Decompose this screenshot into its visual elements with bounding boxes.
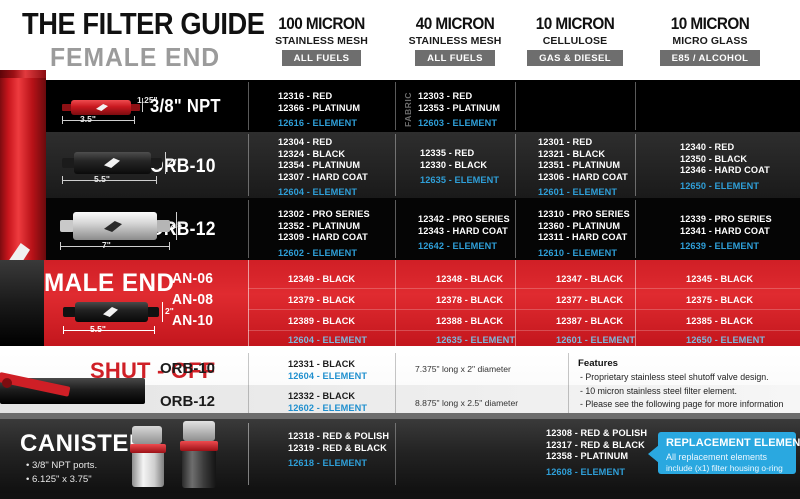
male-fitting-image <box>0 260 44 346</box>
column-header-10-micron-micro-glass: 10 MICRON MICRO GLASS E85 / ALCOHOL <box>635 14 785 66</box>
row-orb-12: ORB-12 7" 2.5" 12302 - PRO SERIES 12352 … <box>0 198 800 260</box>
feature-item: - 10 micron stainless steel filter eleme… <box>580 386 737 396</box>
shutoff-dimensions: 7.375" long x 2" diameter <box>415 364 511 374</box>
part-number: 12366 - PLATINUM <box>278 103 360 115</box>
part-number: 12339 - PRO SERIES <box>680 214 772 226</box>
part-number-element: 12601 - ELEMENT <box>538 187 628 198</box>
dimension-line-diameter <box>165 152 166 174</box>
cell-npt-100micron: 12316 - RED 12366 - PLATINUM 12616 - ELE… <box>278 91 360 130</box>
canister-image-polish <box>128 426 168 488</box>
column-header-100-micron: 100 MICRON STAINLESS MESH ALL FUELS <box>248 14 395 66</box>
fabric-label: FABRIC <box>403 92 413 127</box>
cell-orb10-10micron-microglass: 12340 - RED 12350 - BLACK 12346 - HARD C… <box>680 142 770 192</box>
part-number: 12375 - BLACK <box>686 295 753 307</box>
section-canister: CANISTER • 3/8" NPT ports. • 6.125" x 3.… <box>0 419 800 493</box>
part-number: 12385 - BLACK <box>686 316 753 328</box>
row-npt-38: 3/8" NPT 3.5" 1.25" 12316 - RED 12366 - … <box>0 80 800 132</box>
cell-orb10-40micron: 12335 - RED 12330 - BLACK 12635 - ELEMEN… <box>420 148 499 187</box>
dimension-tick <box>63 326 64 334</box>
dimension-tick <box>62 176 63 184</box>
canister-bullet: • 3/8" NPT ports. <box>26 460 97 471</box>
canister-image-black <box>178 421 220 489</box>
cell-orb10-100micron: 12304 - RED 12324 - BLACK 12354 - PLATIN… <box>278 137 390 198</box>
part-number: 12341 - HARD COAT <box>680 226 772 238</box>
column-micron-label: 40 MICRON <box>401 14 509 34</box>
dimension-diameter-label: 2" <box>168 157 177 167</box>
part-number: 12347 - BLACK <box>556 274 623 286</box>
dimension-line-length <box>62 120 135 121</box>
part-number: 12302 - PRO SERIES <box>278 209 370 221</box>
dimension-tick <box>62 116 63 124</box>
part-number-element: 12604 - ELEMENT <box>288 335 367 346</box>
part-number: 12377 - BLACK <box>556 295 623 307</box>
part-number: 12388 - BLACK <box>436 316 503 328</box>
dimension-tick <box>60 242 61 250</box>
cell-npt-40micron: 12303 - RED 12353 - PLATINUM 12603 - ELE… <box>418 91 500 130</box>
part-number: 12319 - RED & BLACK <box>288 443 389 455</box>
column-fuel-badge: ALL FUELS <box>415 50 495 66</box>
part-number: 12306 - HARD COAT <box>538 172 628 184</box>
shutoff-row-label: ORB-12 <box>160 393 215 410</box>
part-number-element: 12650 - ELEMENT <box>686 335 765 346</box>
part-number: 12343 - HARD COAT <box>418 226 510 238</box>
part-number-element: 12602 - ELEMENT <box>278 248 370 260</box>
part-number: 12332 - BLACK <box>288 391 355 403</box>
part-number: 12342 - PRO SERIES <box>418 214 510 226</box>
row-label-npt: 3/8" NPT <box>150 96 221 117</box>
replacement-callout-line: include (x1) filter housing o-ring <box>666 463 783 474</box>
cell-orb10-10micron-cellulose: 12301 - RED 12321 - BLACK 12351 - PLATIN… <box>538 137 628 198</box>
part-number: 12324 - BLACK <box>278 149 390 161</box>
page-title: THE FILTER GUIDE <box>22 6 265 42</box>
dimension-length-label: 5.5" <box>94 174 110 184</box>
part-number: 12348 - BLACK <box>436 274 503 286</box>
replacement-elements-callout: REPLACEMENT ELEMENTS All replacement ele… <box>658 432 796 474</box>
part-number: 12308 - RED & POLISH <box>546 428 647 440</box>
part-number-element: 12650 - ELEMENT <box>680 181 770 193</box>
replacement-callout-line: All replacement elements <box>666 452 767 463</box>
shutoff-row-label: ORB-10 <box>160 360 215 377</box>
bottom-band <box>0 493 800 499</box>
shutoff-valve-image <box>0 372 150 418</box>
male-row-label-an-06: AN-06 <box>172 270 213 287</box>
part-number: 12378 - BLACK <box>436 295 503 307</box>
part-number-element: 12635 - ELEMENT <box>420 175 499 187</box>
part-number-element: 12616 - ELEMENT <box>278 118 360 130</box>
cell-orb12-100micron: 12302 - PRO SERIES 12352 - PLATINUM 1230… <box>278 209 370 259</box>
part-number: 12353 - PLATINUM <box>418 103 500 115</box>
filter-guide-page: THE FILTER GUIDE FEMALE END 100 MICRON S… <box>0 0 800 499</box>
page-header: THE FILTER GUIDE FEMALE END 100 MICRON S… <box>0 0 800 80</box>
row-orb-10: ORB-10 5.5" 2" 12304 - RED 12324 - BLACK… <box>0 132 800 198</box>
filter-image-orb-12 <box>60 212 170 240</box>
column-fuel-badge: GAS & DIESEL <box>527 50 623 66</box>
part-number: 12351 - PLATINUM <box>538 160 628 172</box>
part-number-element: 12601 - ELEMENT <box>556 335 635 346</box>
male-end-title: MALE END <box>44 269 175 298</box>
dimension-line-diameter <box>162 302 163 322</box>
male-row-label-an-10: AN-10 <box>172 312 213 329</box>
column-material-label: CELLULOSE <box>515 35 635 47</box>
part-number: 12307 - HARD COAT <box>278 172 390 184</box>
dimension-tick <box>156 176 157 184</box>
male-row-label-an-08: AN-08 <box>172 291 213 308</box>
features-heading: Features <box>578 358 618 369</box>
dimension-diameter-label: 1.25" <box>137 95 158 105</box>
part-number: 12389 - BLACK <box>288 316 355 328</box>
part-number: 12304 - RED <box>278 137 390 149</box>
part-number: 12350 - BLACK <box>680 154 770 166</box>
filter-image-npt <box>62 100 140 115</box>
dimension-line-length <box>60 246 170 247</box>
column-fuel-badge: E85 / ALCOHOL <box>660 50 761 66</box>
part-number-element: 12603 - ELEMENT <box>418 118 500 130</box>
part-number: 12349 - BLACK <box>288 274 355 286</box>
part-number-element: 12608 - ELEMENT <box>546 467 647 479</box>
shutoff-dimensions: 8.875" long x 2.5" diameter <box>415 398 518 408</box>
part-number: 12354 - PLATINUM <box>278 160 390 172</box>
filter-image-male-end <box>63 302 159 322</box>
part-number: 12360 - PLATINUM <box>538 221 630 233</box>
dimension-diameter-label: 2.5" <box>170 220 186 230</box>
part-number-element: 12610 - ELEMENT <box>538 248 630 260</box>
part-number: 12311 - HARD COAT <box>538 232 630 244</box>
column-header-10-micron-cellulose: 10 MICRON CELLULOSE GAS & DIESEL <box>515 14 635 66</box>
part-number: 12303 - RED <box>418 91 500 103</box>
part-number: 12330 - BLACK <box>420 160 499 172</box>
female-end-heading: FEMALE END <box>50 42 220 73</box>
part-number: 12316 - RED <box>278 91 360 103</box>
part-number: 12387 - BLACK <box>556 316 623 328</box>
divider-band <box>0 413 800 419</box>
canister-bullet: • 6.125" x 3.75" <box>26 474 92 485</box>
part-number: 12331 - BLACK <box>288 359 355 371</box>
column-micron-label: 10 MICRON <box>643 14 778 34</box>
feature-item: - Proprietary stainless steel shutoff va… <box>580 372 769 382</box>
column-fuel-badge: ALL FUELS <box>282 50 362 66</box>
cell-canister-10micron-cellulose: 12308 - RED & POLISH 12317 - RED & BLACK… <box>546 428 647 478</box>
part-number: 12310 - PRO SERIES <box>538 209 630 221</box>
section-male-end: MALE END 5.5" 2" AN-06 AN-08 AN-10 12349… <box>0 260 800 346</box>
part-number-element: 12635 - ELEMENT <box>436 335 515 346</box>
cell-canister-100micron: 12318 - RED & POLISH 12319 - RED & BLACK… <box>288 431 389 470</box>
part-number: 12301 - RED <box>538 137 628 149</box>
dimension-tick <box>154 326 155 334</box>
part-number: 12317 - RED & BLACK <box>546 440 647 452</box>
part-number-element: 12604 - ELEMENT <box>278 187 390 198</box>
column-material-label: STAINLESS MESH <box>395 35 515 47</box>
cell-orb12-40micron: 12342 - PRO SERIES 12343 - HARD COAT 126… <box>418 214 510 253</box>
part-number: 12309 - HARD COAT <box>278 232 370 244</box>
column-micron-label: 100 MICRON <box>255 14 387 34</box>
part-number: 12321 - BLACK <box>538 149 628 161</box>
column-material-label: STAINLESS MESH <box>248 35 395 47</box>
column-material-label: MICRO GLASS <box>635 35 785 47</box>
part-number: 12340 - RED <box>680 142 770 154</box>
part-number-element: 12604 - ELEMENT <box>288 371 367 383</box>
part-number: 12345 - BLACK <box>686 274 753 286</box>
column-header-40-micron: 40 MICRON STAINLESS MESH ALL FUELS <box>395 14 515 66</box>
dimension-length-label: 3.5" <box>80 114 96 124</box>
part-number-element: 12639 - ELEMENT <box>680 241 772 253</box>
dimension-line-length <box>63 330 155 331</box>
filter-image-orb-10 <box>62 152 162 174</box>
part-number-element: 12618 - ELEMENT <box>288 458 389 470</box>
dimension-length-label: 5.5" <box>90 324 106 334</box>
cell-orb12-10micron-cellulose: 12310 - PRO SERIES 12360 - PLATINUM 1231… <box>538 209 630 259</box>
replacement-callout-title: REPLACEMENT ELEMENTS <box>666 437 800 449</box>
dimension-tick <box>169 242 170 250</box>
feature-item: - Please see the following page for more… <box>580 399 783 409</box>
part-number-element: 12642 - ELEMENT <box>418 241 510 253</box>
cell-orb12-10micron-microglass: 12339 - PRO SERIES 12341 - HARD COAT 126… <box>680 214 772 253</box>
part-number: 12318 - RED & POLISH <box>288 431 389 443</box>
part-number: 12358 - PLATINUM <box>546 451 647 463</box>
dimension-length-label: 7" <box>102 240 111 250</box>
part-number: 12352 - PLATINUM <box>278 221 370 233</box>
part-number: 12379 - BLACK <box>288 295 355 307</box>
part-number: 12335 - RED <box>420 148 499 160</box>
column-micron-label: 10 MICRON <box>521 14 629 34</box>
part-number: 12346 - HARD COAT <box>680 165 770 177</box>
dimension-tick <box>134 116 135 124</box>
